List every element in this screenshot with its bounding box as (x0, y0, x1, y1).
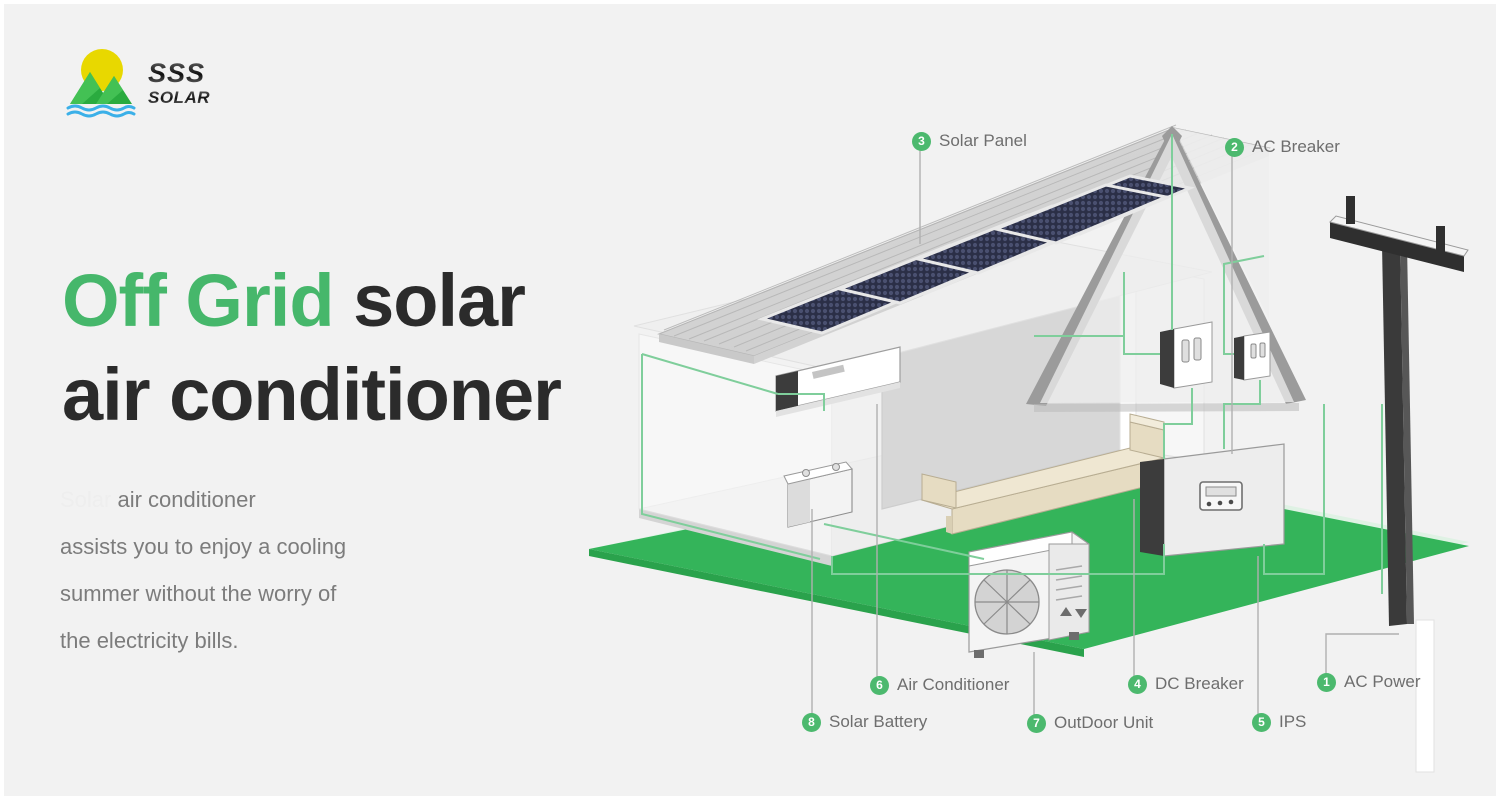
callout-label-solar-panel: Solar Panel (939, 131, 1027, 151)
callout-label-ac-power: AC Power (1344, 672, 1421, 692)
poster-canvas: SSS SOLAR Off Grid solar air conditioner… (4, 4, 1496, 796)
callout-label-outdoor-unit: OutDoor Unit (1054, 713, 1153, 733)
description-text: Solar air conditioner assists you to enj… (60, 476, 480, 664)
ips-inverter[interactable] (1140, 444, 1284, 556)
logo-wordmark: SSS SOLAR (144, 56, 254, 112)
description-line-1: Solar air conditioner (60, 476, 480, 523)
callout-label-dc-breaker: DC Breaker (1155, 674, 1244, 694)
callout-badge-6: 6 (870, 676, 889, 695)
callout-air-conditioner[interactable]: 6 Air Conditioner (870, 675, 1009, 695)
callout-label-air-conditioner: Air Conditioner (897, 675, 1009, 695)
callout-badge-4: 4 (1128, 675, 1147, 694)
callout-badge-1: 1 (1317, 673, 1336, 692)
callout-badge-8: 8 (802, 713, 821, 732)
headline-line2: air conditioner (62, 353, 561, 436)
description-line-1-text: air conditioner (117, 487, 255, 512)
svg-text:SSS: SSS (148, 58, 205, 88)
callout-solar-panel[interactable]: 3 Solar Panel (912, 131, 1027, 151)
headline-highlight: Off Grid (62, 259, 334, 342)
callout-badge-5: 5 (1252, 713, 1271, 732)
callout-label-ac-breaker: AC Breaker (1252, 137, 1340, 157)
svg-text:SOLAR: SOLAR (148, 88, 210, 107)
sun-mountain-water-icon (62, 42, 140, 120)
callout-badge-2: 2 (1225, 138, 1244, 157)
headline-line1-rest: solar (334, 259, 525, 342)
callout-ac-breaker[interactable]: 2 AC Breaker (1225, 137, 1340, 157)
outdoor-condenser-unit[interactable] (969, 532, 1089, 658)
callout-badge-7: 7 (1027, 714, 1046, 733)
callout-badge-3: 3 (912, 132, 931, 151)
callout-solar-battery[interactable]: 8 Solar Battery (802, 712, 927, 732)
callout-ac-power[interactable]: 1 AC Power (1317, 672, 1421, 692)
description-ghost-word: Solar (60, 487, 111, 512)
callout-dc-breaker[interactable]: 4 DC Breaker (1128, 674, 1244, 694)
dc-breaker-box[interactable] (1160, 322, 1212, 388)
description-line-3: summer without the worry of (60, 570, 480, 617)
callout-label-ips: IPS (1279, 712, 1306, 732)
callout-ips[interactable]: 5 IPS (1252, 712, 1306, 732)
ac-breaker-box[interactable] (1234, 332, 1270, 380)
brand-logo[interactable]: SSS SOLAR (62, 42, 252, 122)
description-line-2: assists you to enjoy a cooling (60, 523, 480, 570)
callout-label-solar-battery: Solar Battery (829, 712, 927, 732)
description-line-4: the electricity bills. (60, 617, 480, 664)
callout-outdoor-unit[interactable]: 7 OutDoor Unit (1027, 713, 1153, 733)
